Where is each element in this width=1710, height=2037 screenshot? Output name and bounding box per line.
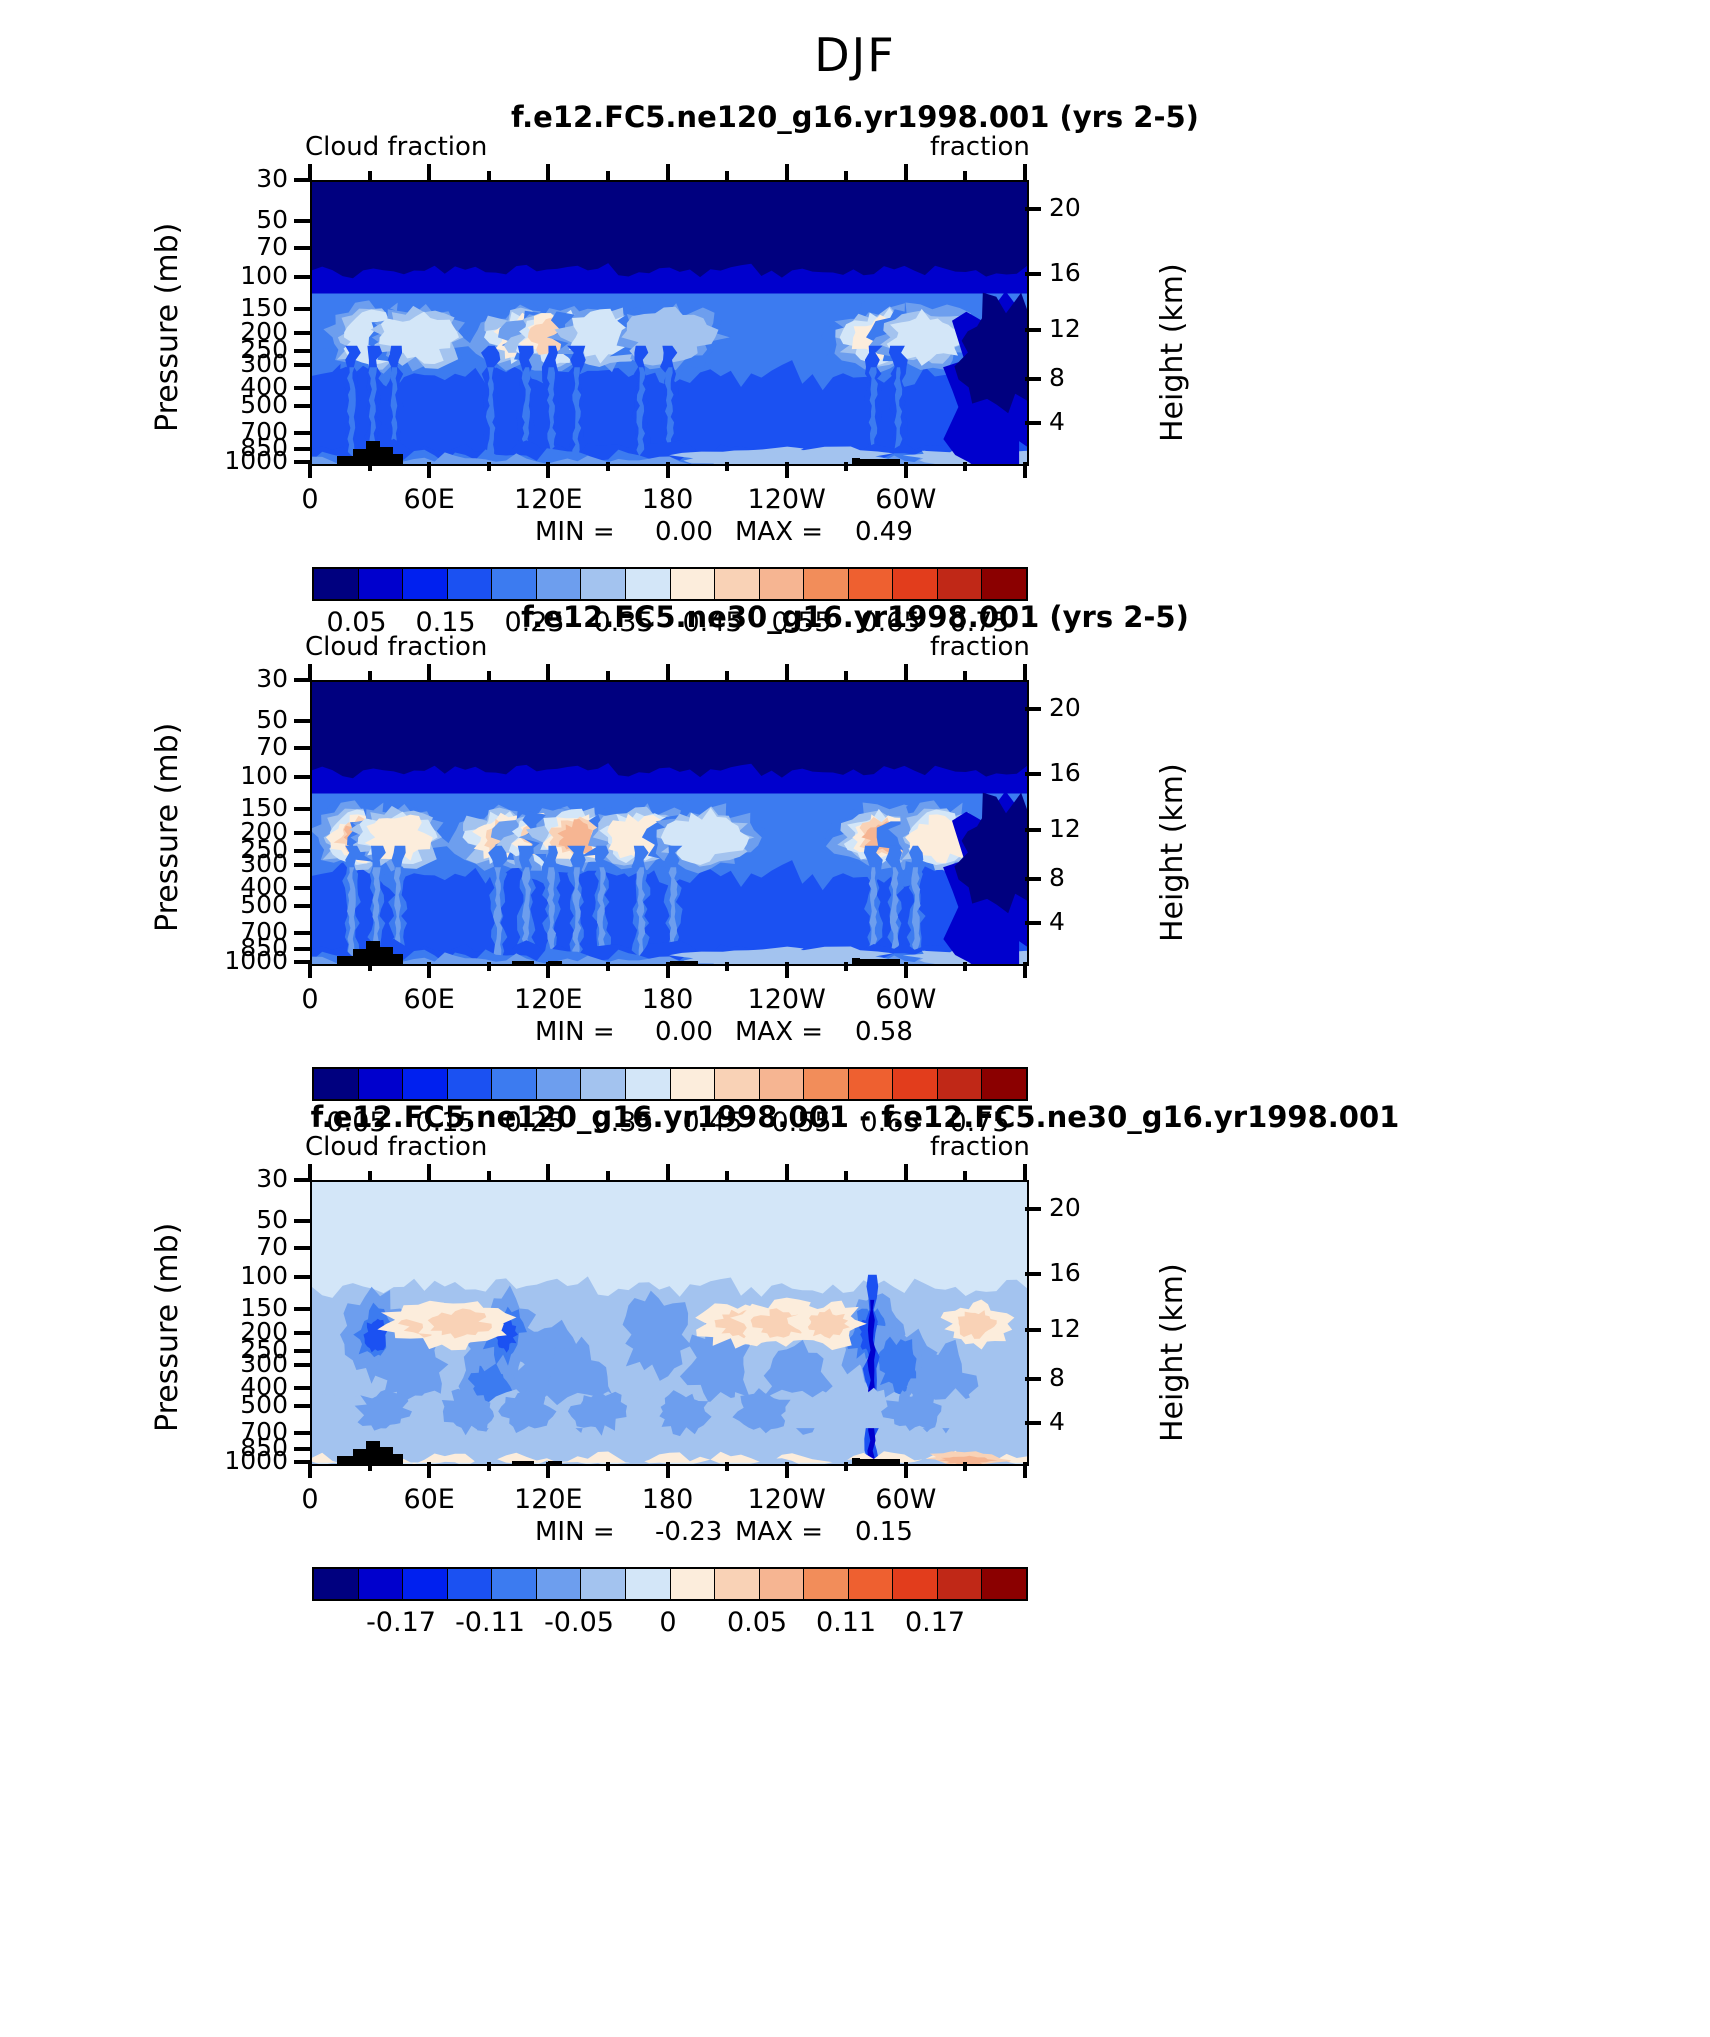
- height-tick-label-20: 20: [1049, 1193, 1119, 1222]
- x-major-tickmark-top: [546, 664, 550, 680]
- x-major-tickmark: [1023, 462, 1027, 478]
- colorbar-swatch: [359, 1069, 404, 1099]
- x-major-tickmark: [1023, 962, 1027, 978]
- terrain-mask: [393, 454, 403, 464]
- panel-3-colorbar-label-6: 0.17: [905, 1607, 965, 1638]
- x-tick-label-0: 0: [301, 984, 318, 1015]
- pressure-tickmark: [294, 246, 310, 250]
- panel-3-title: f.e12.FC5.ne120_g16.yr1998.001 - f.e12.F…: [0, 1100, 1710, 1134]
- x-major-tickmark-top: [666, 164, 670, 180]
- panel-2-max-value: 0.58: [855, 1017, 913, 1047]
- x-major-tickmark: [904, 962, 908, 978]
- colorbar-swatch: [448, 569, 493, 599]
- x-minor-tickmark-top: [844, 1171, 848, 1180]
- colorbar-swatch: [715, 569, 760, 599]
- height-tickmark: [1025, 1328, 1041, 1332]
- height-tickmark: [1025, 328, 1041, 332]
- pressure-tick-label-50: 50: [198, 205, 288, 234]
- colorbar-swatch: [938, 1069, 983, 1099]
- x-minor-tickmark: [963, 462, 967, 471]
- colorbar-swatch: [314, 569, 359, 599]
- panel-1-y-axis-title: Pressure (mb): [150, 223, 185, 432]
- x-major-tickmark: [308, 462, 312, 478]
- pressure-tickmark: [294, 275, 310, 279]
- panel-3-colorbar-label-5: 0.11: [816, 1607, 876, 1638]
- pressure-tick-label-100: 100: [198, 761, 288, 790]
- colorbar-swatch: [760, 569, 805, 599]
- height-tick-label-4: 4: [1049, 907, 1119, 936]
- pressure-tickmark: [294, 363, 310, 367]
- colorbar-swatch: [448, 1069, 493, 1099]
- x-major-tickmark: [666, 962, 670, 978]
- pressure-tickmark: [294, 1431, 310, 1435]
- height-tick-label-8: 8: [1049, 1363, 1119, 1392]
- x-tick-label-120E: 120E: [514, 484, 583, 515]
- height-tickmark: [1025, 1272, 1041, 1276]
- pressure-tickmark: [294, 1331, 310, 1335]
- height-tickmark: [1025, 421, 1041, 425]
- panel-3-contour-field: [312, 1182, 1027, 1464]
- terrain-mask: [860, 459, 899, 464]
- x-tick-label-120W: 120W: [748, 1484, 826, 1515]
- x-tick-label-60W: 60W: [875, 484, 936, 515]
- x-minor-tickmark-top: [963, 171, 967, 180]
- pressure-tick-label-70: 70: [198, 1232, 288, 1261]
- x-major-tickmark: [427, 462, 431, 478]
- x-major-tickmark-top: [1023, 664, 1027, 680]
- height-tickmark: [1025, 707, 1041, 711]
- colorbar-swatch: [671, 569, 716, 599]
- terrain-mask: [380, 947, 393, 964]
- x-minor-tickmark: [606, 962, 610, 971]
- height-tick-label-8: 8: [1049, 863, 1119, 892]
- panel-1-max-label: MAX =: [735, 517, 823, 547]
- pressure-tick-label-500: 500: [198, 890, 288, 919]
- pressure-tickmark: [294, 746, 310, 750]
- x-tick-label-180: 180: [642, 1484, 694, 1515]
- x-major-tickmark: [1023, 1462, 1027, 1478]
- x-minor-tickmark-top: [844, 171, 848, 180]
- height-tickmark: [1025, 1377, 1041, 1381]
- pressure-tickmark: [294, 1349, 310, 1353]
- height-tick-label-12: 12: [1049, 814, 1119, 843]
- terrain-mask: [366, 1441, 380, 1464]
- panel-1-variable-label: Cloud fraction: [305, 132, 487, 162]
- colorbar-swatch: [671, 1569, 716, 1599]
- terrain-mask: [366, 941, 380, 964]
- panel-3-min-label: MIN =: [535, 1517, 615, 1547]
- x-major-tickmark-top: [785, 664, 789, 680]
- x-major-tickmark: [785, 1462, 789, 1478]
- pressure-tickmark: [294, 1386, 310, 1390]
- panel-1-title: f.e12.FC5.ne120_g16.yr1998.001 (yrs 2-5): [0, 100, 1710, 134]
- terrain-mask: [670, 961, 699, 964]
- x-tick-label-120E: 120E: [514, 1484, 583, 1515]
- x-major-tickmark: [546, 962, 550, 978]
- terrain-mask: [512, 961, 533, 964]
- x-minor-tickmark: [963, 1462, 967, 1471]
- height-tickmark: [1025, 377, 1041, 381]
- x-tick-label-120W: 120W: [748, 484, 826, 515]
- pressure-tickmark: [294, 1447, 310, 1451]
- panel-1-colorbar-label-0: 0.05: [326, 607, 386, 638]
- colorbar-swatch: [893, 1069, 938, 1099]
- panel-2-colorbar-label-2: 0.25: [504, 1107, 564, 1138]
- pressure-tick-label-50: 50: [198, 705, 288, 734]
- x-major-tickmark: [308, 1462, 312, 1478]
- pressure-tick-label-100: 100: [198, 1261, 288, 1290]
- x-minor-tickmark-top: [487, 1171, 491, 1180]
- pressure-tick-label-1000: 1000: [198, 1446, 288, 1475]
- x-minor-tickmark-top: [606, 171, 610, 180]
- height-tick-label-20: 20: [1049, 193, 1119, 222]
- pressure-tickmark: [294, 947, 310, 951]
- panel-2-y-axis-title: Pressure (mb): [150, 723, 185, 932]
- x-minor-tickmark-top: [725, 671, 729, 680]
- height-tickmark: [1025, 828, 1041, 832]
- pressure-tickmark: [294, 719, 310, 723]
- pressure-tickmark: [294, 1307, 310, 1311]
- panel-1-min-value: 0.00: [655, 517, 713, 547]
- height-tick-label-4: 4: [1049, 1407, 1119, 1436]
- pressure-tick-label-70: 70: [198, 732, 288, 761]
- x-minor-tickmark-top: [487, 671, 491, 680]
- panel-2-plot-area: [310, 680, 1029, 966]
- colorbar-swatch: [359, 569, 404, 599]
- panel-3-y2-axis-title: Height (km): [1155, 1263, 1190, 1442]
- pressure-tick-label-500: 500: [198, 390, 288, 419]
- x-major-tickmark: [308, 962, 312, 978]
- x-minor-tickmark: [606, 462, 610, 471]
- panel-1-colorbar-label-6: 0.65: [860, 607, 920, 638]
- panel-1-colorbar[interactable]: [312, 567, 1028, 601]
- panel-2-max-label: MAX =: [735, 1017, 823, 1047]
- colorbar-swatch: [626, 569, 671, 599]
- x-major-tickmark: [546, 462, 550, 478]
- height-tickmark: [1025, 207, 1041, 211]
- pressure-tick-label-50: 50: [198, 1205, 288, 1234]
- panel-1-plot-area: [310, 180, 1029, 466]
- colorbar-swatch: [492, 1569, 537, 1599]
- height-tick-label-8: 8: [1049, 363, 1119, 392]
- pressure-tick-label-100: 100: [198, 261, 288, 290]
- panel-2-min-value: 0.00: [655, 1017, 713, 1047]
- panel-3-max-label: MAX =: [735, 1517, 823, 1547]
- panel-3-min-value: -0.23: [655, 1517, 722, 1547]
- x-tick-label-60W: 60W: [875, 1484, 936, 1515]
- x-major-tickmark-top: [1023, 164, 1027, 180]
- x-minor-tickmark: [487, 462, 491, 471]
- pressure-tickmark: [294, 1404, 310, 1408]
- x-minor-tickmark: [368, 462, 372, 471]
- panel-3-colorbar-label-2: -0.05: [544, 1607, 614, 1638]
- height-tick-label-12: 12: [1049, 314, 1119, 343]
- x-minor-tickmark-top: [368, 171, 372, 180]
- terrain-mask: [353, 1449, 366, 1464]
- colorbar-swatch: [938, 569, 983, 599]
- x-major-tickmark-top: [785, 164, 789, 180]
- pressure-tickmark: [294, 1246, 310, 1250]
- panel-2-colorbar[interactable]: [312, 1067, 1028, 1101]
- panel-3-colorbar-label-4: 0.05: [727, 1607, 787, 1638]
- terrain-mask: [380, 447, 393, 464]
- terrain-mask: [380, 1447, 393, 1464]
- colorbar-swatch: [982, 569, 1026, 599]
- panel-2-colorbar-label-6: 0.65: [860, 1107, 920, 1138]
- colorbar-swatch: [849, 1569, 894, 1599]
- x-minor-tickmark-top: [963, 1171, 967, 1180]
- colorbar-swatch: [715, 1069, 760, 1099]
- x-major-tickmark-top: [308, 664, 312, 680]
- x-minor-tickmark: [844, 962, 848, 971]
- colorbar-swatch: [403, 569, 448, 599]
- x-tick-label-60E: 60E: [403, 484, 454, 515]
- colorbar-swatch: [537, 569, 582, 599]
- panel-3-colorbar[interactable]: [312, 1567, 1028, 1601]
- x-minor-tickmark-top: [725, 171, 729, 180]
- x-minor-tickmark-top: [606, 1171, 610, 1180]
- x-major-tickmark: [785, 962, 789, 978]
- panel-1-max-value: 0.49: [855, 517, 913, 547]
- x-tick-label-60E: 60E: [403, 984, 454, 1015]
- colorbar-swatch: [671, 1069, 716, 1099]
- figure-canvas: DJF f.e12.FC5.ne120_g16.yr1998.001 (yrs …: [0, 0, 1710, 2037]
- colorbar-swatch: [314, 1569, 359, 1599]
- x-minor-tickmark-top: [606, 671, 610, 680]
- height-tickmark: [1025, 877, 1041, 881]
- height-tickmark: [1025, 272, 1041, 276]
- pressure-tickmark: [294, 1275, 310, 1279]
- panel-2-colorbar-label-5: 0.55: [771, 1107, 831, 1138]
- panel-3-colorbar-label-1: -0.11: [455, 1607, 525, 1638]
- x-major-tickmark-top: [546, 1164, 550, 1180]
- x-tick-label-60E: 60E: [403, 1484, 454, 1515]
- x-minor-tickmark: [844, 462, 848, 471]
- height-tickmark: [1025, 921, 1041, 925]
- colorbar-swatch: [893, 569, 938, 599]
- terrain-mask: [337, 456, 353, 464]
- terrain-mask: [337, 956, 353, 964]
- terrain-mask: [393, 1454, 403, 1464]
- colorbar-swatch: [760, 1069, 805, 1099]
- x-minor-tickmark-top: [844, 671, 848, 680]
- panel-1-contour-field: [312, 182, 1027, 464]
- x-minor-tickmark: [725, 962, 729, 971]
- height-tick-label-20: 20: [1049, 693, 1119, 722]
- x-tick-label-180: 180: [642, 984, 694, 1015]
- terrain-mask: [393, 954, 403, 964]
- colorbar-swatch: [804, 1069, 849, 1099]
- panel-2-colorbar-label-1: 0.15: [415, 1107, 475, 1138]
- panel-3-y-axis-title: Pressure (mb): [150, 1223, 185, 1432]
- colorbar-swatch: [938, 1569, 983, 1599]
- terrain-mask: [353, 949, 366, 964]
- x-minor-tickmark: [606, 1462, 610, 1471]
- x-minor-tickmark-top: [963, 671, 967, 680]
- x-major-tickmark-top: [427, 664, 431, 680]
- height-tickmark: [1025, 1207, 1041, 1211]
- terrain-mask: [337, 1456, 353, 1464]
- terrain-mask: [366, 441, 380, 464]
- pressure-tickmark: [294, 931, 310, 935]
- panel-3-plot-area: [310, 1180, 1029, 1466]
- colorbar-swatch: [314, 1069, 359, 1099]
- x-tick-label-120W: 120W: [748, 984, 826, 1015]
- x-major-tickmark: [904, 462, 908, 478]
- x-minor-tickmark: [844, 1462, 848, 1471]
- colorbar-swatch: [893, 1569, 938, 1599]
- pressure-tickmark: [294, 831, 310, 835]
- colorbar-swatch: [537, 1569, 582, 1599]
- pressure-tickmark: [294, 331, 310, 335]
- colorbar-swatch: [804, 1569, 849, 1599]
- x-minor-tickmark-top: [725, 1171, 729, 1180]
- colorbar-swatch: [492, 569, 537, 599]
- height-tick-label-16: 16: [1049, 258, 1119, 287]
- x-major-tickmark: [666, 462, 670, 478]
- pressure-tickmark: [294, 404, 310, 408]
- pressure-tickmark: [294, 849, 310, 853]
- x-minor-tickmark: [368, 1462, 372, 1471]
- height-tick-label-16: 16: [1049, 1258, 1119, 1287]
- panel-1-colorbar-label-4: 0.45: [682, 607, 742, 638]
- height-tick-label-16: 16: [1049, 758, 1119, 787]
- panel-1-y2-axis-title: Height (km): [1155, 263, 1190, 442]
- pressure-tick-label-30: 30: [198, 664, 288, 693]
- colorbar-swatch: [403, 1569, 448, 1599]
- terrain-mask: [353, 449, 366, 464]
- x-major-tickmark: [546, 1462, 550, 1478]
- terrain-mask: [860, 1459, 899, 1464]
- height-tick-label-4: 4: [1049, 407, 1119, 436]
- colorbar-swatch: [537, 1069, 582, 1099]
- x-minor-tickmark-top: [487, 171, 491, 180]
- pressure-tick-label-500: 500: [198, 1390, 288, 1419]
- x-major-tickmark-top: [546, 164, 550, 180]
- x-minor-tickmark: [487, 1462, 491, 1471]
- x-major-tickmark: [427, 962, 431, 978]
- colorbar-swatch: [448, 1569, 493, 1599]
- x-minor-tickmark: [725, 1462, 729, 1471]
- x-tick-label-0: 0: [301, 484, 318, 515]
- x-tick-label-120E: 120E: [514, 984, 583, 1015]
- pressure-tickmark: [294, 863, 310, 867]
- colorbar-swatch: [626, 1069, 671, 1099]
- pressure-tick-label-70: 70: [198, 232, 288, 261]
- height-tickmark: [1025, 1421, 1041, 1425]
- colorbar-swatch: [581, 1069, 626, 1099]
- pressure-tick-label-1000: 1000: [198, 946, 288, 975]
- x-major-tickmark-top: [427, 164, 431, 180]
- panel-3-colorbar-label-0: -0.17: [366, 1607, 436, 1638]
- colorbar-swatch: [849, 569, 894, 599]
- colorbar-swatch: [849, 1069, 894, 1099]
- terrain-mask: [852, 1458, 861, 1464]
- pressure-tick-label-1000: 1000: [198, 446, 288, 475]
- x-minor-tickmark-top: [368, 1171, 372, 1180]
- x-major-tickmark-top: [904, 1164, 908, 1180]
- colorbar-swatch: [982, 1569, 1026, 1599]
- panel-1-colorbar-label-5: 0.55: [771, 607, 831, 638]
- height-tickmark: [1025, 772, 1041, 776]
- x-tick-label-180: 180: [642, 484, 694, 515]
- x-major-tickmark-top: [308, 1164, 312, 1180]
- x-major-tickmark: [427, 1462, 431, 1478]
- x-major-tickmark-top: [1023, 1164, 1027, 1180]
- x-minor-tickmark-top: [368, 671, 372, 680]
- x-major-tickmark-top: [666, 664, 670, 680]
- x-tick-label-60W: 60W: [875, 984, 936, 1015]
- terrain-mask: [852, 958, 861, 964]
- x-minor-tickmark: [487, 962, 491, 971]
- panel-2-contour-field: [312, 682, 1027, 964]
- x-major-tickmark: [666, 1462, 670, 1478]
- pressure-tickmark: [294, 307, 310, 311]
- pressure-tickmark: [294, 431, 310, 435]
- panel-2-colorbar-label-0: 0.05: [326, 1107, 386, 1138]
- x-major-tickmark-top: [427, 1164, 431, 1180]
- x-tick-label-0: 0: [301, 1484, 318, 1515]
- pressure-tickmark: [294, 1363, 310, 1367]
- x-minor-tickmark: [963, 962, 967, 971]
- height-tick-label-12: 12: [1049, 1314, 1119, 1343]
- pressure-tickmark: [294, 349, 310, 353]
- colorbar-swatch: [359, 1569, 404, 1599]
- panel-1-colorbar-label-1: 0.15: [415, 607, 475, 638]
- colorbar-swatch: [982, 1069, 1026, 1099]
- terrain-mask: [852, 458, 861, 464]
- colorbar-swatch: [492, 1069, 537, 1099]
- colorbar-swatch: [626, 1569, 671, 1599]
- colorbar-swatch: [804, 569, 849, 599]
- terrain-mask: [860, 959, 899, 964]
- pressure-tickmark: [294, 386, 310, 390]
- panel-2-colorbar-label-3: 0.35: [593, 1107, 653, 1138]
- colorbar-swatch: [715, 1569, 760, 1599]
- panel-1-min-label: MIN =: [535, 517, 615, 547]
- x-major-tickmark-top: [904, 164, 908, 180]
- pressure-tick-label-30: 30: [198, 1164, 288, 1193]
- panel-2-colorbar-label-4: 0.45: [682, 1107, 742, 1138]
- panel-3-colorbar-label-3: 0: [659, 1607, 676, 1638]
- x-minor-tickmark: [725, 462, 729, 471]
- season-title: DJF: [0, 28, 1710, 82]
- panel-3-max-value: 0.15: [855, 1517, 913, 1547]
- pressure-tickmark: [294, 1219, 310, 1223]
- x-major-tickmark-top: [666, 1164, 670, 1180]
- pressure-tickmark: [294, 807, 310, 811]
- panel-1-colorbar-label-7: 0.75: [949, 607, 1009, 638]
- colorbar-swatch: [403, 1069, 448, 1099]
- pressure-tickmark: [294, 447, 310, 451]
- x-major-tickmark: [785, 462, 789, 478]
- panel-2-y2-axis-title: Height (km): [1155, 763, 1190, 942]
- colorbar-swatch: [581, 569, 626, 599]
- x-major-tickmark-top: [308, 164, 312, 180]
- panel-1-units-label: fraction: [930, 132, 1030, 162]
- panel-2-colorbar-label-7: 0.75: [949, 1107, 1009, 1138]
- pressure-tickmark: [294, 904, 310, 908]
- x-minor-tickmark: [368, 962, 372, 971]
- x-major-tickmark-top: [904, 664, 908, 680]
- pressure-tickmark: [294, 886, 310, 890]
- panel-2-min-label: MIN =: [535, 1017, 615, 1047]
- panel-2-title: f.e12.FC5.ne30_g16.yr1998.001 (yrs 2-5): [0, 600, 1710, 634]
- pressure-tickmark: [294, 219, 310, 223]
- colorbar-swatch: [581, 1569, 626, 1599]
- terrain-mask: [512, 1461, 533, 1464]
- x-major-tickmark-top: [785, 1164, 789, 1180]
